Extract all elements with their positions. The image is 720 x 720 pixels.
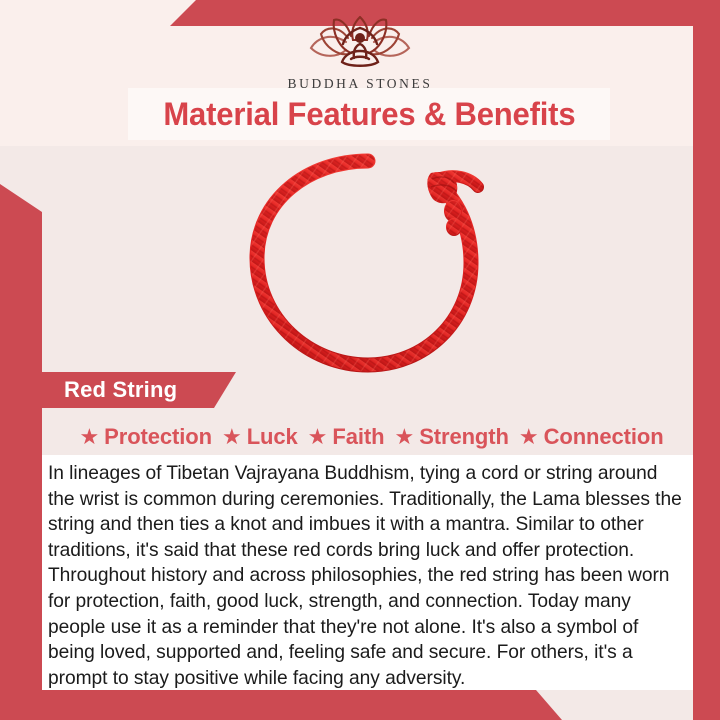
- feature-item: ★ Luck: [214, 424, 298, 450]
- section-ribbon: Red String: [0, 372, 236, 408]
- poster-root: BUDDHA STONES Material Features & Benefi…: [0, 0, 720, 720]
- star-icon: ★: [519, 426, 539, 448]
- feature-item: ★ Protection: [71, 424, 212, 450]
- star-icon: ★: [394, 426, 414, 448]
- feature-label: Faith: [332, 424, 384, 450]
- feature-item: ★ Connection: [511, 424, 664, 450]
- frame-right-accent-bar: [693, 0, 720, 720]
- feature-label: Strength: [419, 424, 509, 450]
- brand-logo: BUDDHA STONES: [0, 14, 720, 92]
- star-icon: ★: [79, 426, 99, 448]
- description-paragraph: In lineages of Tibetan Vajrayana Buddhis…: [48, 461, 683, 691]
- star-icon: ★: [308, 426, 328, 448]
- feature-item: ★ Faith: [300, 424, 385, 450]
- section-ribbon-label: Red String: [64, 377, 177, 403]
- page-title: Material Features & Benefits: [163, 96, 575, 133]
- description-panel: In lineages of Tibetan Vajrayana Buddhis…: [42, 455, 693, 690]
- feature-label: Connection: [544, 424, 664, 450]
- red-string-bracelet-icon: [235, 151, 501, 377]
- product-image: [42, 150, 693, 378]
- lotus-meditation-icon: [301, 14, 419, 74]
- feature-label: Luck: [247, 424, 298, 450]
- feature-label: Protection: [104, 424, 212, 450]
- title-banner: Material Features & Benefits: [128, 88, 610, 140]
- star-icon: ★: [222, 426, 242, 448]
- feature-item: ★ Strength: [386, 424, 508, 450]
- feature-list: ★ Protection ★ Luck ★ Faith ★ Strength ★…: [42, 421, 693, 453]
